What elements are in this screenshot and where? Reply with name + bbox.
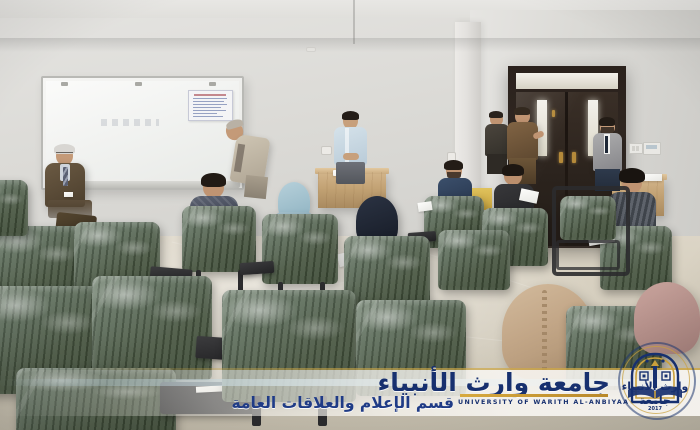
id-badge — [64, 192, 73, 197]
ceiling-shadow — [0, 38, 700, 52]
wall-mark — [306, 47, 316, 52]
door-transom-window — [516, 73, 618, 89]
whiteboard-clip — [61, 82, 68, 86]
whiteboard-clip — [135, 82, 142, 86]
ceiling-seam — [353, 0, 355, 44]
classroom-photo: قسم الإعلام والعلاقات العامة جامعة وارث … — [0, 0, 700, 430]
thermostat-panel[interactable] — [643, 142, 661, 155]
emblem-year: 2017 — [614, 406, 696, 412]
university-name-english: UNIVERSITY OF WARITH AL-ANBIYAA — [458, 399, 610, 406]
university-wordmark: جامعة وارث الأنبياء UNIVERSITY OF WARITH… — [458, 370, 610, 414]
whiteboard-marker-traces — [101, 119, 159, 126]
person-standing-proctor-center — [330, 112, 370, 184]
chair[interactable] — [262, 214, 338, 284]
exam-paper — [417, 201, 432, 212]
light-switch[interactable] — [629, 143, 643, 154]
chair-foreground[interactable] — [92, 276, 212, 380]
university-name-arabic: جامعة وارث الأنبياء — [458, 370, 610, 396]
whiteboard-clip — [209, 82, 216, 86]
chair-basket — [556, 240, 620, 270]
emblem-text-top: وارث الأنبياء — [614, 380, 696, 393]
chair[interactable] — [438, 230, 510, 290]
printed-notice — [188, 90, 233, 121]
chair[interactable] — [0, 180, 28, 236]
university-emblem: وارث الأنبياء جامعة 2017 — [614, 346, 696, 422]
wordmark-gold-underline — [460, 394, 608, 397]
